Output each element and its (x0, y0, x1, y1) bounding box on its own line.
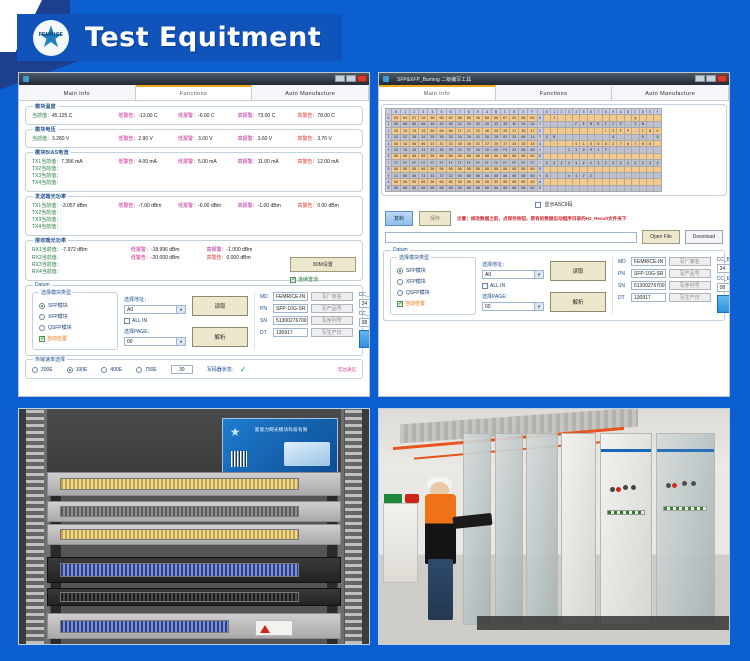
bias-hi-alarm: 高警告：12.00 mA (297, 158, 357, 166)
pn-input[interactable]: SFP-10G-SR (631, 269, 666, 278)
radio-icon[interactable] (397, 268, 403, 274)
hex-cell[interactable]: 00 (528, 185, 537, 191)
decode-button[interactable]: 解析 (192, 327, 248, 347)
volt-hi-warn-value: 3.60 V (258, 136, 272, 142)
bias-low-warn: 低报警：5.00 mA (178, 158, 238, 166)
bias-low-warn-value: 5.00 mA (198, 159, 217, 165)
tab-main-info[interactable]: Main Info (19, 85, 136, 100)
switch-unit-4 (47, 557, 341, 583)
radio-icon[interactable] (397, 290, 403, 296)
bias-tx2-label: TX2当前值： (32, 166, 357, 173)
cc-base-label: CC_BASE (359, 292, 370, 298)
left-tab-strip[interactable]: Main Info Functions Auto Manufacture (19, 85, 369, 101)
knob-icon-red (616, 487, 621, 492)
hex-cell[interactable]: 00 (501, 185, 510, 191)
dt-input[interactable]: 130917 (631, 293, 666, 302)
rx-rx1-current: RX1当前值：-7.972 dBm (32, 246, 131, 254)
ascii-cell[interactable] (573, 185, 580, 191)
tx-hi-warn-value: -1.00 dBm (258, 203, 281, 209)
hex-table[interactable]: 0123456789ABCDEF0123456789ABCDEF00304072… (385, 108, 662, 192)
hex-cell[interactable]: 00 (428, 185, 437, 191)
module-type-group: 选择模块类型 SFP模块 XFP模块 QSFP模块 自动检置 (390, 257, 476, 315)
warning-label (255, 620, 293, 636)
checkbox-icon[interactable] (124, 318, 130, 324)
tx-hi-alarm-label: 高警告： (297, 203, 317, 209)
md-key: MD (260, 294, 270, 300)
field-row-pn: PN SFP-10G-SR 写产品号 (260, 304, 353, 313)
temp-low-warn-label: 低报警： (178, 113, 198, 119)
temp-low-alarm: 低警告：-13.00 C (118, 112, 178, 120)
rx-hi-alarm-value: 0.000 dBm (226, 255, 250, 261)
checkbox-icon[interactable] (535, 202, 541, 208)
refresh-data-button[interactable]: 刷新数据 (717, 295, 730, 313)
sn-key: SN (618, 283, 628, 289)
page-value: 00 (485, 304, 491, 310)
rx-low-alarm-value: -20.000 dBm (151, 255, 180, 261)
page-title: Test Equitment (85, 22, 321, 53)
page-value: 00 (127, 339, 133, 345)
bias-low-alarm: 低警告：4.00 mA (118, 158, 178, 166)
tx-tx4-label: TX4当前值： (32, 224, 357, 231)
ascii-cell[interactable] (543, 185, 550, 191)
radio-xfp[interactable]: XFP模块 (397, 278, 471, 285)
rate-400e-label: 400E (110, 367, 122, 373)
radio-qsfp[interactable]: QSFP模块 (397, 289, 471, 296)
cc-base-input[interactable]: 24 (359, 299, 370, 308)
page-header-banner: ★ FEMRICE Test Equitment (17, 14, 342, 61)
address-label: 选择地址： (124, 296, 186, 303)
md-input[interactable]: FEMRICE-IN (631, 257, 666, 266)
photo-content: ★ 富恩力网光模块科技有限 (19, 409, 369, 644)
page-select[interactable]: 00 ▼ (124, 337, 186, 346)
address-label: 选择地址： (482, 261, 544, 268)
knob-icon (666, 483, 671, 488)
hex-row[interactable]: B00000000000000000000000000000000B (386, 185, 662, 191)
tx-hi-alarm-value: 0.00 dBm (317, 203, 338, 209)
radio-icon[interactable] (67, 367, 73, 373)
field-row-dt: DT 130917 写生产日 (260, 328, 353, 337)
field-row-pn: PN SFP-10G-SR 写产品号 (618, 269, 711, 278)
field-row-dt: DT 130917 写生产日 (618, 293, 711, 302)
open-file-button[interactable]: Open File (642, 230, 680, 244)
rack-rail-left (26, 409, 44, 644)
rx-side-controls: 80M设置 连续查询 (290, 257, 356, 283)
bias-tx1-value: 7.356 mA (61, 159, 82, 165)
volt-hi-warn: 高报警：3.60 V (238, 135, 298, 143)
radio-icon[interactable] (32, 367, 38, 373)
right-app-screenshot: SFP&XFP_Burning 二级编写工具 Main Info Functio… (378, 72, 730, 397)
read-button[interactable]: 读取 (550, 261, 606, 281)
bias-hi-alarm-label: 高警告： (297, 159, 317, 165)
bias-tx1-label: TX1当前值： (32, 159, 61, 165)
cabinet-1 (463, 433, 491, 626)
group-legend: 模块电压 (33, 126, 58, 133)
all-in-checkbox[interactable]: ALL IN (124, 318, 186, 324)
hex-cell[interactable]: 00 (510, 185, 519, 191)
module-type-legend: 选择模块类型 (39, 289, 73, 296)
bias-tx1-current: TX1当前值：7.356 mA (32, 158, 118, 166)
radio-xfp[interactable]: XFP模块 (39, 313, 113, 320)
rx-rx4-label: RX4当前值： (32, 269, 282, 276)
write-vendor-name-button[interactable]: 写厂家名 (311, 292, 353, 301)
md-key: MD (618, 259, 628, 265)
chevron-down-icon[interactable]: ▼ (176, 306, 185, 313)
switch-ports (60, 563, 299, 576)
tab-functions[interactable]: Functions (136, 85, 253, 100)
rx-low-warn-value: -18.996 dBm (151, 247, 180, 253)
rate-value-input[interactable]: 30 (171, 365, 193, 374)
cc-ext-input[interactable]: 08 (717, 283, 730, 292)
left-app-screenshot: Main Info Functions Auto Manufacture 模块温… (18, 72, 370, 397)
download-button[interactable]: Download (685, 230, 723, 244)
checkbox-icon[interactable] (397, 301, 403, 307)
temp-hi-warn: 高报警：73.00 C (238, 112, 298, 120)
exit-sign-icon (384, 494, 402, 503)
write-part-number-button[interactable]: 写产品号 (669, 269, 711, 278)
write-vendor-name-button[interactable]: 写厂家名 (669, 257, 711, 266)
rate-200e-label: 200E (41, 367, 53, 373)
hex-editor[interactable]: 0123456789ABCDEF0123456789ABCDEF00304072… (381, 104, 727, 196)
field-row-md: MD FEMRICE-IN 写厂家名 (618, 257, 711, 266)
save-button[interactable]: 保存 (419, 211, 451, 226)
cabinet-band (601, 449, 652, 452)
volt-low-alarm-value: 2.90 V (138, 136, 152, 142)
datacenter-photo (378, 408, 730, 645)
company-logo: ★ FEMRICE (33, 20, 69, 56)
rx-hi-alarm: 高警告：0.000 dBm (206, 254, 282, 262)
page-label: 选择PAGE： (482, 293, 544, 300)
file-path-input[interactable] (385, 232, 637, 243)
close-icon[interactable] (717, 75, 727, 82)
auto-detect-checkbox[interactable]: 自动检置 (39, 335, 113, 342)
ascii-cell[interactable] (565, 185, 572, 191)
left-window-body: 模块温度 当前值：45.125 C 低警告：-13.00 C 低报警：-6.00… (19, 101, 369, 384)
field-row-md: MD FEMRICE-IN 写厂家名 (260, 292, 353, 301)
wall-poster: ★ 富恩力网光模块科技有限 (222, 418, 338, 474)
temp-current: 当前值：45.125 C (32, 112, 118, 120)
action-button-column: 读取 解析 (550, 257, 606, 315)
rx-low-warn: 低报警：-18.996 dBm (131, 246, 207, 254)
volt-hi-alarm-label: 高警告： (297, 136, 317, 142)
hex-cell[interactable]: 00 (482, 185, 491, 191)
status-indicator-icon: ✓ (240, 365, 247, 374)
refresh-data-button[interactable]: 刷新数据 (359, 330, 370, 348)
radio-icon[interactable] (39, 325, 45, 331)
action-button-column: 读取 解析 (192, 292, 248, 350)
photo-content (379, 409, 729, 644)
maximize-icon[interactable] (346, 75, 356, 82)
rx-hi-warn-value: -1.000 dBm (226, 247, 252, 253)
radio-icon[interactable] (136, 367, 142, 373)
radio-sfp[interactable]: SFP模块 (397, 267, 471, 274)
radio-icon[interactable] (39, 314, 45, 320)
knob-icon (610, 487, 615, 492)
sn-input[interactable]: 51300276700 (631, 281, 666, 290)
floor-plinth (477, 616, 729, 630)
file-row: Open File Download (385, 230, 723, 244)
close-icon[interactable] (357, 75, 367, 82)
tx-low-warn-value: -6.00 dBm (198, 203, 221, 209)
page-select[interactable]: 00 ▼ (482, 302, 544, 311)
radio-xfp-label: XFP模块 (48, 313, 68, 320)
ascii-cell[interactable] (602, 185, 609, 191)
right-tab-strip[interactable]: Main Info Functions Auto Manufacture (379, 85, 729, 101)
dt-key: DT (260, 330, 270, 336)
volt-low-warn-label: 低报警： (178, 136, 198, 142)
write-date-button[interactable]: 写生产日 (311, 328, 353, 337)
app-icon (23, 76, 29, 82)
rx-hi-warn-label: 高报警： (206, 247, 226, 253)
chevron-down-icon[interactable]: ▼ (534, 271, 543, 278)
show-ascii-checkbox[interactable]: 显示ASCII码 (385, 201, 723, 208)
bias-hi-warn-label: 高报警： (238, 159, 258, 165)
all-in-checkbox[interactable]: ALL IN (482, 283, 544, 289)
maximize-icon[interactable] (706, 75, 716, 82)
metric-row: RX1当前值：-7.972 dBm 低报警：-18.996 dBm 高报警：-1… (32, 246, 282, 254)
temp-current-value: 45.125 C (52, 113, 72, 119)
datum-panel: Datum 选择模块类型 SFP模块 XFP模块 QSFP模块 自动检置 (383, 250, 725, 321)
auto-detect-label: 自动检置 (47, 335, 67, 342)
hex-cell[interactable]: 00 (455, 185, 464, 191)
switch-unit-5 (47, 588, 341, 607)
hex-cell[interactable]: 00 (519, 185, 528, 191)
hex-cell[interactable]: 00 (419, 185, 428, 191)
hex-cell[interactable]: 00 (446, 185, 455, 191)
switch-unit-6 (47, 613, 341, 639)
checkbox-icon[interactable] (482, 283, 488, 289)
checksum-column: CC_BASE 24 CC_EXT 08 刷新数据 (717, 257, 730, 315)
rx-rx3-label: RX3当前值： (32, 262, 282, 269)
poster-star-icon: ★ (230, 425, 241, 439)
metric-row: TX1当前值：-3.057 dBm 低警告：-7.00 dBm 低报警：-6.0… (32, 202, 357, 210)
switch-unit-2 (47, 501, 341, 522)
write-part-number-button[interactable]: 写产品号 (311, 304, 353, 313)
tab-main-info[interactable]: Main Info (379, 85, 496, 100)
qr-code-icon (231, 451, 247, 467)
rx-low-alarm-label: 低警告： (131, 255, 151, 261)
field-row-sn: SN 51300276700 写序列号 (260, 316, 353, 325)
cc-ext-label: CC_EXT (359, 311, 370, 317)
radio-icon[interactable] (39, 303, 45, 309)
bias-low-alarm-value: 4.00 mA (138, 159, 157, 165)
write-serial-number-button[interactable]: 写序列号 (311, 316, 353, 325)
knob-icon (631, 485, 636, 490)
ascii-cell[interactable] (587, 185, 594, 191)
pn-key: PN (260, 306, 270, 312)
bias-hi-warn-value: 11.00 mA (258, 159, 279, 165)
write-date-button[interactable]: 写生产日 (669, 293, 711, 302)
copy-button[interactable]: 复制 (385, 211, 413, 226)
ascii-cell[interactable] (639, 185, 646, 191)
rate-100e-label: 100E (76, 367, 88, 373)
group-legend: 模块温度 (33, 103, 58, 110)
cc-ext-input[interactable]: 08 (359, 318, 370, 327)
bias-tx3-label: TX3当前值： (32, 173, 357, 180)
volt-low-warn: 低报警：3.00 V (178, 135, 238, 143)
setup-80m-button[interactable]: 80M设置 (290, 257, 356, 272)
ascii-cell[interactable] (595, 185, 602, 191)
tab-auto-manufacture[interactable]: Auto Manufacture (612, 85, 729, 100)
continuous-query-checkbox[interactable]: 连续查询 (290, 276, 356, 283)
address-value: A0 (127, 307, 133, 313)
selector-column: 选择地址： A0 ▼ ALL IN 选择PAGE： 00 ▼ (482, 257, 544, 315)
switch-ports (60, 592, 299, 601)
minimize-icon[interactable] (695, 75, 705, 82)
hex-cell[interactable]: 00 (401, 185, 410, 191)
radio-qsfp[interactable]: QSFP模块 (39, 324, 113, 331)
ascii-cell[interactable] (654, 185, 661, 191)
room-door (383, 503, 418, 583)
radio-sfp[interactable]: SFP模块 (39, 302, 113, 309)
switch-ports (60, 620, 229, 633)
radio-sfp-label: SFP模块 (48, 302, 68, 309)
chevron-down-icon[interactable]: ▼ (534, 303, 543, 310)
read-button[interactable]: 读取 (192, 296, 248, 316)
radio-qsfp-label: QSFP模块 (406, 289, 430, 296)
worker-body (425, 494, 457, 565)
ascii-cell[interactable] (550, 185, 557, 191)
breaker-strip (663, 506, 707, 511)
right-window-titlebar: SFP&XFP_Burning 二级编写工具 (379, 73, 729, 85)
dt-key: DT (618, 295, 628, 301)
hex-cell[interactable]: 00 (473, 185, 482, 191)
volt-current-label: 当前值： (32, 136, 52, 142)
rx-low-alarm: 低警告：-20.000 dBm (131, 254, 207, 262)
minimize-icon[interactable] (335, 75, 345, 82)
temp-hi-alarm: 高警告：78.00 C (297, 112, 357, 120)
cc-base-input[interactable]: 24 (717, 264, 730, 273)
rate-option-200e[interactable]: 200E (32, 367, 53, 373)
rate-option-750e[interactable]: 750E (136, 367, 157, 373)
rx-rx2-label: RX2当前值： (32, 255, 131, 262)
knob-icon (691, 481, 696, 486)
write-serial-number-button[interactable]: 写序列号 (669, 281, 711, 290)
left-window-controls[interactable] (335, 75, 367, 82)
ascii-cell[interactable] (624, 185, 631, 191)
continuous-query-label: 连续查询 (298, 276, 318, 283)
dt-input[interactable]: 130917 (273, 328, 308, 337)
tx-hi-warn-label: 高报警： (238, 203, 258, 209)
bias-low-warn-label: 低报警： (178, 159, 198, 165)
tab-functions[interactable]: Functions (496, 85, 613, 100)
tx-low-alarm-value: -7.00 dBm (138, 203, 161, 209)
module-type-group: 选择模块类型 SFP模块 XFP模块 QSFP模块 自动检置 (32, 292, 118, 350)
hex-footer: 显示ASCII码 复制 保存 注意：修改数据之前，点保存按钮，原有的数据自动程序… (379, 199, 729, 248)
rx-low-warn-label: 低报警： (131, 247, 151, 253)
radio-icon[interactable] (101, 367, 107, 373)
module-type-legend: 选择模块类型 (397, 254, 431, 261)
knob-icon-red (672, 483, 677, 488)
datum-legend: Datum (33, 282, 52, 288)
hex-cell[interactable]: 00 (492, 185, 501, 191)
rx-hi-alarm-label: 高警告： (206, 255, 226, 261)
tab-auto-manufacture[interactable]: Auto Manufacture (252, 85, 369, 100)
pn-input[interactable]: SFP-10G-SR (273, 304, 308, 313)
field-column: MD FEMRICE-IN 写厂家名 PN SFP-10G-SR 写产品号 SN… (612, 257, 711, 315)
address-select[interactable]: A0 ▼ (482, 270, 544, 279)
radio-sfp-label: SFP模块 (406, 267, 426, 274)
rate-option-100e[interactable]: 100E (67, 367, 88, 373)
ascii-cell[interactable] (617, 185, 624, 191)
ascii-cell[interactable] (580, 185, 587, 191)
burner-status-label: 写码器状态： (207, 366, 237, 373)
left-window-titlebar (19, 73, 369, 85)
address-select[interactable]: A0 ▼ (124, 305, 186, 314)
ascii-cell[interactable] (632, 185, 639, 191)
hex-cell[interactable]: 00 (410, 185, 419, 191)
ascii-cell[interactable] (646, 185, 653, 191)
rx-rx1-label: RX1当前值： (32, 247, 62, 253)
cc-base-label: CC_BASE (717, 257, 730, 263)
temp-hi-alarm-value: 78.00 C (317, 113, 335, 119)
rate-legend: 传输速率选择 (33, 356, 67, 363)
volt-hi-alarm: 高警告：3.70 V (297, 135, 357, 143)
tx-tx3-label: TX3当前值： (32, 217, 357, 224)
datum-legend: Datum (391, 247, 410, 253)
temp-low-warn: 低报警：-6.00 C (178, 112, 238, 120)
tx-tx1-current: TX1当前值：-3.057 dBm (32, 202, 118, 210)
radio-icon[interactable] (397, 279, 403, 285)
poster-text: 富恩力网光模块科技有限 (255, 427, 308, 433)
md-input[interactable]: FEMRICE-IN (273, 292, 308, 301)
knob-icon (682, 481, 687, 486)
tx-low-alarm: 低警告：-7.00 dBm (118, 202, 178, 210)
right-datum-wrap: Datum 选择模块类型 SFP模块 XFP模块 QSFP模块 自动检置 (379, 250, 729, 325)
volt-low-warn-value: 3.00 V (198, 136, 212, 142)
ascii-cell[interactable] (610, 185, 617, 191)
hex-cell[interactable]: 00 (437, 185, 446, 191)
rate-option-400e[interactable]: 400E (101, 367, 122, 373)
switch-ports (60, 478, 299, 490)
cabinet-4 (561, 433, 596, 626)
metric-row: 当前值：3.280 V 低警告：2.90 V 低报警：3.00 V 高报警：3.… (32, 135, 357, 143)
checkbox-icon[interactable] (39, 336, 45, 342)
metric-row: TX1当前值：7.356 mA 低警告：4.00 mA 低报警：5.00 mA … (32, 158, 357, 166)
auto-detect-checkbox[interactable]: 自动检置 (397, 300, 471, 307)
tx-low-alarm-label: 低警告： (118, 203, 138, 209)
temp-low-warn-value: -6.00 C (198, 113, 214, 119)
address-value: A0 (485, 272, 491, 278)
volt-low-alarm: 低警告：2.90 V (118, 135, 178, 143)
volt-low-alarm-label: 低警告： (118, 136, 138, 142)
sn-input[interactable]: 51300276700 (273, 316, 308, 325)
bias-hi-warn: 高报警：11.00 mA (238, 158, 298, 166)
tx-tx1-value: -3.057 dBm (61, 203, 87, 209)
switch-ports (60, 529, 299, 540)
right-window-controls[interactable] (695, 75, 727, 82)
temp-hi-warn-label: 高报警： (238, 113, 258, 119)
tx-tx1-label: TX1当前值： (32, 203, 61, 209)
chevron-down-icon[interactable]: ▼ (176, 338, 185, 345)
group-legend: 发送端光功率 (33, 193, 68, 200)
cabinet-2 (495, 433, 523, 626)
selector-column: 选择地址： A0 ▼ ALL IN 选择PAGE： 00 ▼ (124, 292, 186, 350)
volt-hi-alarm-value: 3.70 V (317, 136, 331, 142)
burner-status: 写码器状态： ✓ (207, 365, 247, 374)
decode-button[interactable]: 解析 (550, 292, 606, 312)
group-module-bias-current: 模块BIAS电流 TX1当前值：7.356 mA 低警告：4.00 mA 低报警… (25, 152, 363, 192)
hex-cell[interactable]: 00 (392, 185, 401, 191)
hex-cell[interactable]: 00 (464, 185, 473, 191)
group-legend: 接收端光功率 (33, 237, 68, 244)
tx-hi-alarm: 高警告：0.00 dBm (297, 202, 357, 210)
group-module-temperature: 模块温度 当前值：45.125 C 低警告：-13.00 C 低报警：-6.00… (25, 106, 363, 125)
cabinet-5 (600, 433, 653, 626)
cc-ext-label: CC_EXT (717, 276, 730, 282)
temp-low-alarm-label: 低警告： (118, 113, 138, 119)
ascii-cell[interactable] (558, 185, 565, 191)
checkbox-icon[interactable] (290, 277, 296, 283)
